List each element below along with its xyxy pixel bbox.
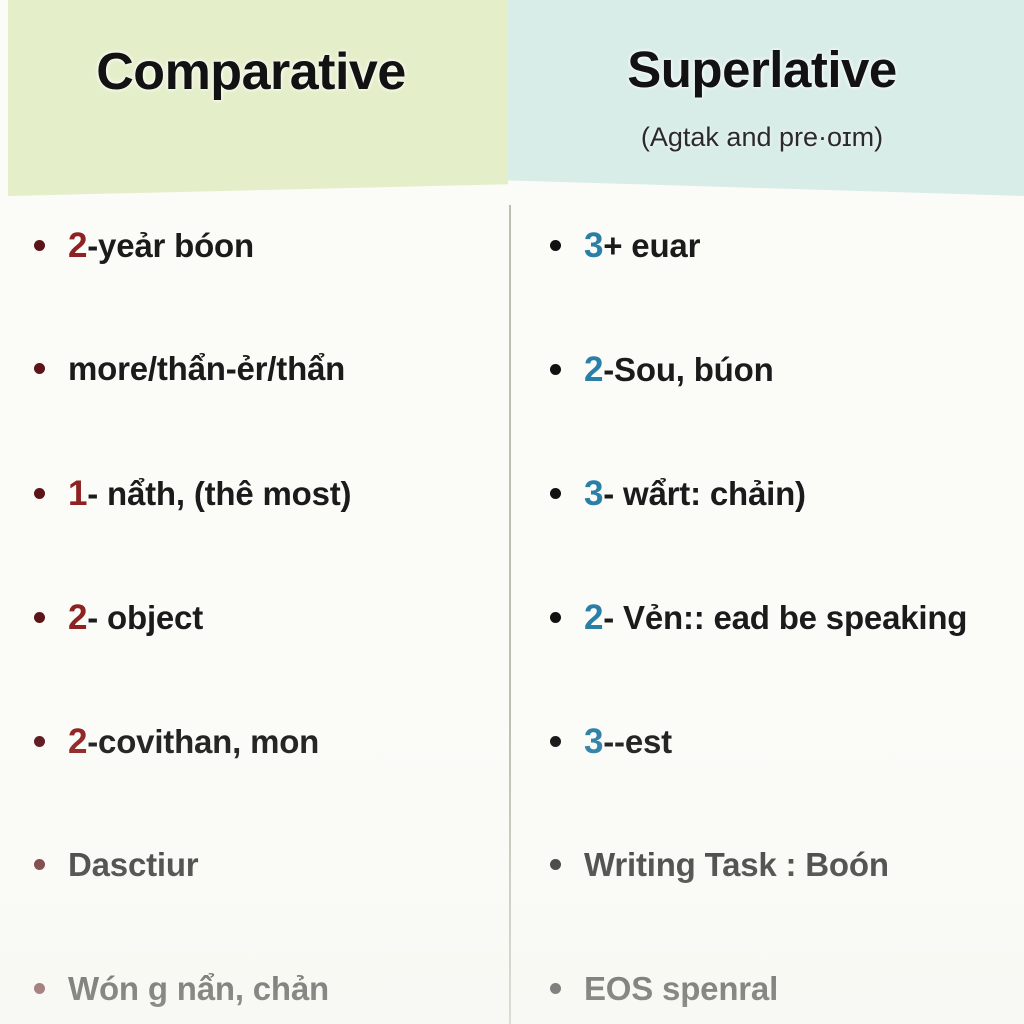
header-row: Comparative Superlative (Agtak and pre·o… [0,0,1024,200]
list-item-text: Writing Task : Boón [584,846,889,884]
list-item-number: 2 [68,598,87,637]
superlative-title: Superlative [508,40,1024,99]
list-item-label: Wón g nẩn, chản [68,970,329,1007]
list-item: 3- wẩrt: chảin) [550,474,1024,598]
column-divider [509,205,511,1024]
list-item-label: - object [87,599,203,636]
comparative-list: 2-yeảr bóonmore/thẩn-ẻr/thẩn1- nẩth, (th… [8,210,508,1024]
list-item-label: -yeảr bóon [87,227,254,264]
superlative-subtitle: (Agtak and pre·oɪm) [508,122,1016,153]
list-item-text: EOS spenral [584,970,778,1008]
bullet-dot-icon [550,983,561,994]
bullet-dot-icon [550,364,561,375]
bullet-dot-icon [34,612,45,623]
list-item-text: 2-covithan, mon [68,722,319,762]
bullet-dot-icon [34,240,45,251]
list-item-text: 2- Vẻn:: ead be speaking [584,598,967,638]
list-item: 2-covithan, mon [34,722,508,846]
list-item: 2- object [34,598,508,722]
list-item-text: 3+ euar [584,226,700,266]
bullet-dot-icon [34,736,45,747]
list-item-text: 2-yeảr bóon [68,226,254,266]
list-item-text: Wón g nẩn, chản [68,970,329,1008]
list-item-text: 3--est [584,722,672,762]
bullet-dot-icon [550,240,561,251]
list-item-label: -Sou, búon [603,351,773,388]
list-item-label: Dasctiur [68,846,198,883]
superlative-list: 3+ euar2-Sou, búon3- wẩrt: chảin)2- Vẻn:… [524,210,1024,1024]
comparative-title: Comparative [8,42,508,102]
list-item: 1- nẩth, (thê most) [34,474,508,598]
bullet-dot-icon [550,859,561,870]
list-item-label: + euar [603,227,700,264]
list-item-label: --est [603,723,672,760]
list-item-number: 2 [584,350,603,389]
list-item: 2-Sou, búon [550,350,1024,474]
list-item-text: 3- wẩrt: chảin) [584,474,806,514]
list-item: Dasctiur [34,846,508,970]
list-item-label: - wẩrt: chảin) [603,475,806,512]
list-item-number: 1 [68,474,87,513]
list-item: Wón g nẩn, chản [34,970,508,1024]
bullet-dot-icon [550,736,561,747]
bullet-dot-icon [34,488,45,499]
list-item: Writing Task : Boón [550,846,1024,970]
bullet-dot-icon [550,488,561,499]
list-item-label: more/thẩn-ẻr/thẩn [68,350,345,387]
list-item: 2-yeảr bóon [34,226,508,350]
header-cell-superlative: Superlative (Agtak and pre·oɪm) [508,0,1024,196]
list-item: 3+ euar [550,226,1024,350]
bullet-dot-icon [550,612,561,623]
list-item-number: 2 [584,598,603,637]
list-item-label: - nẩth, (thê most) [87,475,351,512]
list-item-text: more/thẩn-ẻr/thẩn [68,350,345,388]
list-item-text: 2-Sou, búon [584,350,774,390]
list-item-text: 2- object [68,598,203,638]
list-item-label: - Vẻn:: ead be speaking [603,599,967,636]
bullet-dot-icon [34,363,45,374]
list-item-label: -covithan, mon [87,723,319,760]
list-item-label: EOS spenral [584,970,778,1007]
list-item-text: 1- nẩth, (thê most) [68,474,351,514]
list-item-number: 3 [584,722,603,761]
list-item: EOS spenral [550,970,1024,1024]
bullet-dot-icon [34,983,45,994]
list-item-text: Dasctiur [68,846,198,884]
comparative-superlative-slide: Comparative Superlative (Agtak and pre·o… [0,0,1024,1024]
header-cell-comparative: Comparative [8,0,508,196]
list-item-number: 2 [68,722,87,761]
list-item-number: 3 [584,474,603,513]
list-item-number: 3 [584,226,603,265]
list-item-number: 2 [68,226,87,265]
bullet-dot-icon [34,859,45,870]
list-item: 2- Vẻn:: ead be speaking [550,598,1024,722]
list-item-label: Writing Task : Boón [584,846,889,883]
list-item: more/thẩn-ẻr/thẩn [34,350,508,474]
list-item: 3--est [550,722,1024,846]
